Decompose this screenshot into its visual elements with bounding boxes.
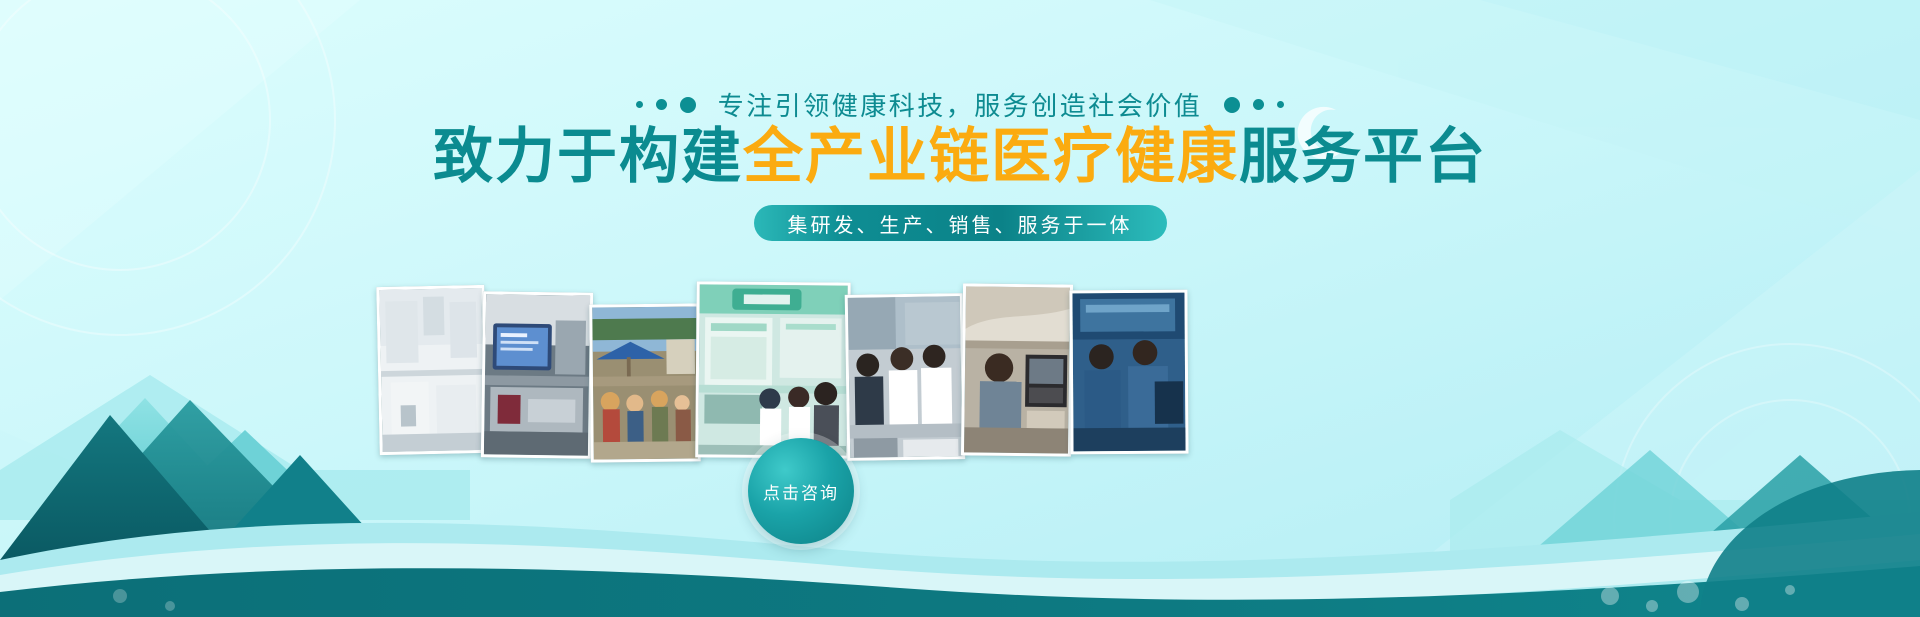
headline-part-1: 致力于构建 [433, 123, 743, 190]
photo-card[interactable] [376, 285, 487, 455]
photo-card[interactable] [845, 293, 966, 461]
photo-card[interactable] [695, 281, 851, 458]
dot-medium-icon [1253, 99, 1264, 110]
dot-large-icon [680, 97, 696, 113]
subtitle-pill-wrap: 集研发、生产、销售、服务于一体 [0, 205, 1920, 241]
headline-part-3: 服务平台 [1239, 123, 1487, 190]
dot-large-icon [1224, 97, 1240, 113]
tagline-dots-left [636, 97, 696, 113]
photo-card[interactable] [961, 283, 1073, 456]
tagline-dots-right [1224, 97, 1284, 113]
photo-image [484, 294, 590, 455]
page-title: 致力于构建全产业链医疗健康服务平台 [0, 124, 1920, 190]
photo-image [379, 288, 484, 452]
photo-image [964, 286, 1070, 453]
tagline-text: 专注引领健康科技，服务创造社会价值 [718, 86, 1203, 123]
photo-card[interactable] [481, 291, 593, 459]
dot-small-icon [636, 101, 643, 108]
consult-button[interactable]: 点击咨询 [748, 438, 854, 544]
headline-part-2: 全产业链医疗健康 [743, 123, 1239, 190]
photo-image [848, 296, 962, 458]
hero-banner: 专注引领健康科技，服务创造社会价值 致力于构建全产业链医疗健康服务平台 集研发、… [0, 0, 1920, 617]
photo-image [698, 284, 847, 455]
consult-button-label: 点击咨询 [763, 479, 839, 504]
photo-strip [378, 282, 1192, 462]
dot-small-icon [1277, 101, 1284, 108]
photo-image [1072, 293, 1185, 452]
photo-card[interactable] [589, 303, 701, 462]
photo-card[interactable] [1069, 290, 1188, 455]
photo-image [592, 306, 698, 459]
dot-medium-icon [656, 99, 667, 110]
subtitle-pill: 集研发、生产、销售、服务于一体 [754, 205, 1167, 241]
tagline-row: 专注引领健康科技，服务创造社会价值 [0, 86, 1920, 123]
